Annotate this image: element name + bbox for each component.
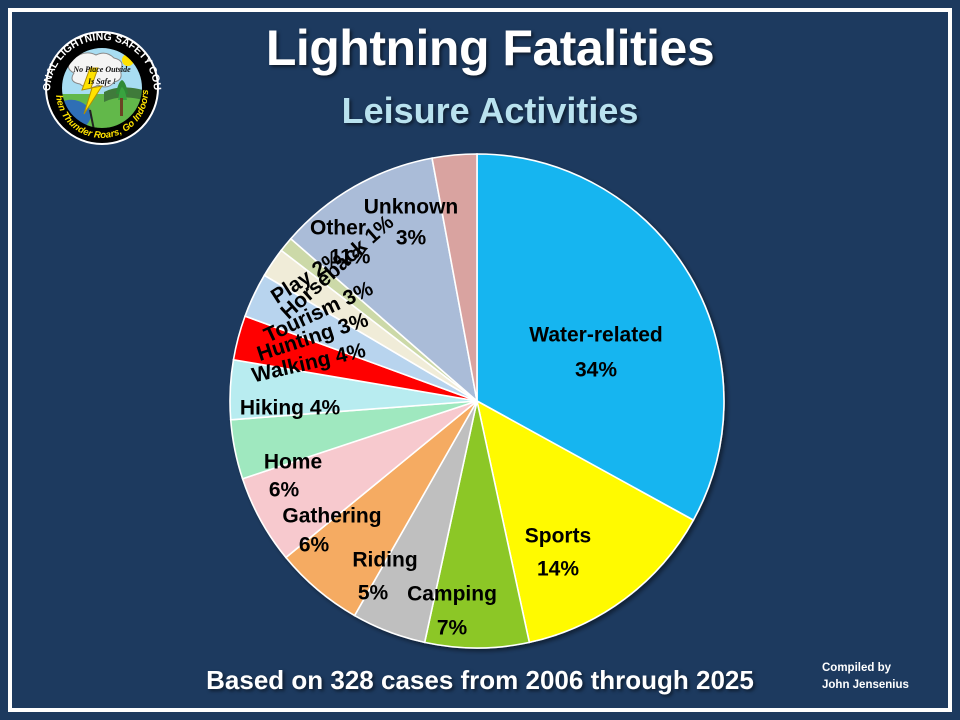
pie-value-other: 11% — [330, 246, 371, 269]
pie-value-home: 6% — [269, 479, 300, 502]
pie-label-gathering: Gathering — [282, 505, 381, 528]
pie-label-other: Other — [310, 217, 366, 240]
pie-value-gathering: 6% — [299, 534, 330, 557]
slide-canvas: No Place Outside Is Safe ! NATIONAL LIGH… — [0, 0, 960, 720]
pie-chart: Water-related34%Sports14%Camping7%Riding… — [0, 0, 960, 720]
pie-value-water-related: 34% — [575, 359, 617, 382]
pie-value-unknown: 3% — [396, 227, 427, 250]
pie-label-water-related: Water-related — [529, 324, 662, 347]
pie-label-riding: Riding — [352, 549, 417, 572]
credit: Compiled by John Jensenius — [822, 660, 942, 693]
credit-line-2: John Jensenius — [822, 677, 942, 694]
credit-line-1: Compiled by — [822, 660, 942, 677]
pie-value-camping: 7% — [437, 617, 468, 640]
pie-label-home: Home — [264, 451, 322, 474]
pie-label-unknown: Unknown — [364, 196, 459, 219]
pie-value-sports: 14% — [537, 558, 579, 581]
pie-label-camping: Camping — [407, 583, 497, 606]
pie-label-sports: Sports — [525, 525, 592, 548]
footnote: Based on 328 cases from 2006 through 202… — [0, 665, 960, 696]
pie-label-hiking: Hiking 4% — [240, 397, 341, 420]
pie-value-riding: 5% — [358, 582, 389, 605]
